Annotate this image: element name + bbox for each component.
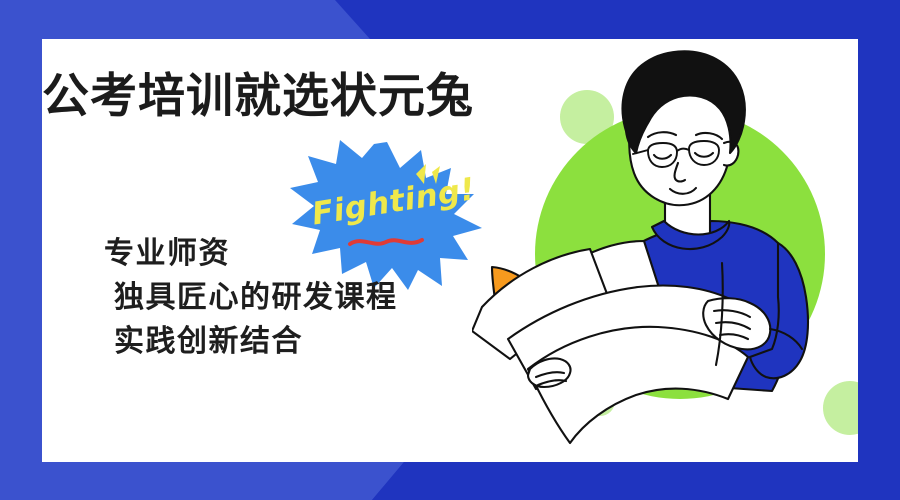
illustration-man-reading	[472, 39, 858, 462]
white-content-panel: 公考培训就选状元兔 Fighting! 专业师资 独具匠心的研发课程 实践创新结…	[42, 39, 858, 462]
feature-item-2: 独具匠心的研发课程	[114, 276, 398, 320]
page-title: 公考培训就选状元兔	[42, 57, 474, 126]
feature-list: 专业师资 独具匠心的研发课程 实践创新结合	[104, 232, 398, 364]
green-soft-circle-bottomright	[823, 381, 858, 435]
feature-item-1: 专业师资	[104, 232, 398, 276]
person-figure	[472, 51, 808, 443]
feature-item-3: 实践创新结合	[114, 320, 398, 364]
promo-banner: 公考培训就选状元兔 Fighting! 专业师资 独具匠心的研发课程 实践创新结…	[0, 0, 900, 500]
